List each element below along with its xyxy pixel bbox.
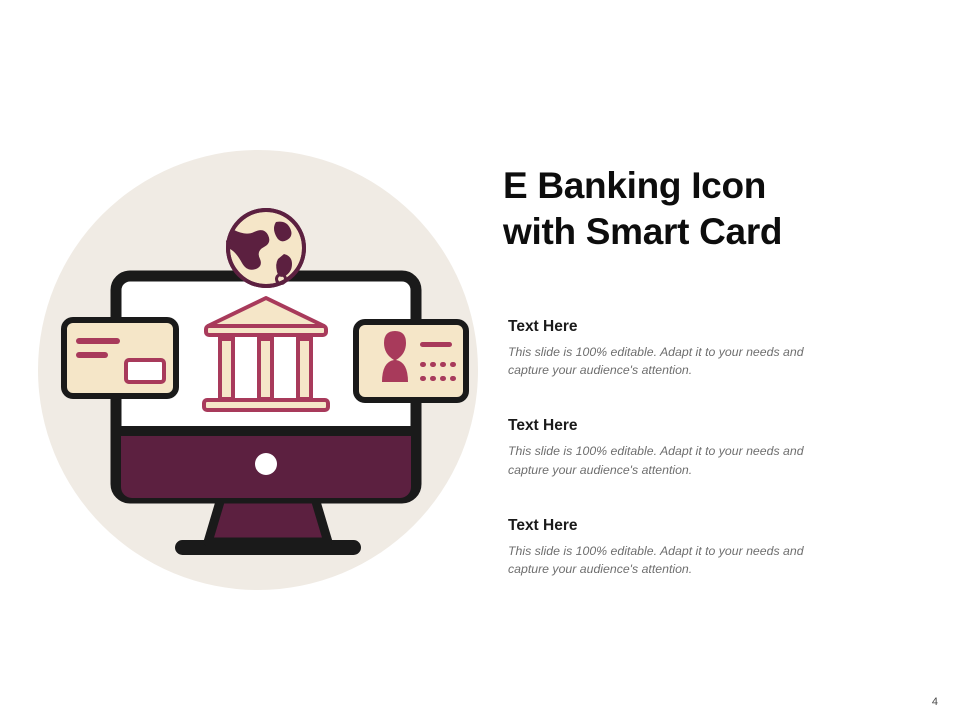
page-number: 4 bbox=[932, 696, 938, 708]
globe-icon bbox=[226, 210, 304, 286]
text-block-1-body: This slide is 100% editable. Adapt it to… bbox=[508, 343, 838, 379]
text-block-3: Text Here This slide is 100% editable. A… bbox=[508, 517, 908, 578]
text-block-3-body: This slide is 100% editable. Adapt it to… bbox=[508, 542, 838, 578]
slide: E Banking Icon with Smart Card Text Here… bbox=[0, 0, 960, 720]
text-block-2-body: This slide is 100% editable. Adapt it to… bbox=[508, 442, 838, 478]
illustration-svg bbox=[38, 150, 478, 590]
e-banking-illustration bbox=[38, 150, 478, 590]
text-block-2-heading: Text Here bbox=[508, 417, 908, 435]
text-block-2: Text Here This slide is 100% editable. A… bbox=[508, 417, 908, 478]
page-title: E Banking Icon with Smart Card bbox=[503, 163, 923, 254]
page-title-line-2: with Smart Card bbox=[503, 209, 923, 255]
text-block-1-heading: Text Here bbox=[508, 318, 908, 336]
text-blocks: Text Here This slide is 100% editable. A… bbox=[508, 318, 908, 616]
id-card-icon bbox=[356, 322, 466, 400]
text-block-1: Text Here This slide is 100% editable. A… bbox=[508, 318, 908, 379]
text-block-3-heading: Text Here bbox=[508, 517, 908, 535]
page-title-line-1: E Banking Icon bbox=[503, 163, 923, 209]
credit-card-icon bbox=[64, 320, 176, 396]
